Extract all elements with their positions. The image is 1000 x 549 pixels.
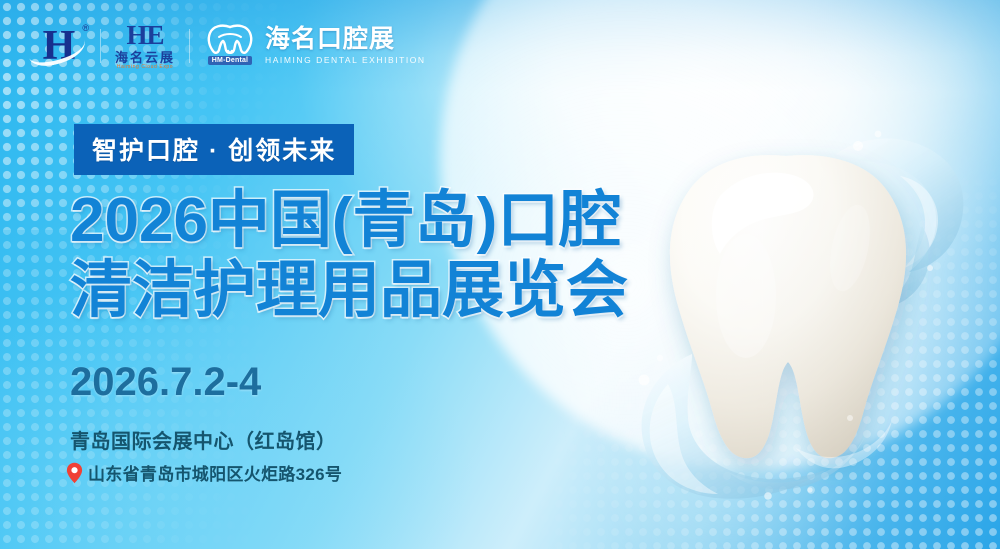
tagline-banner: 智护口腔 · 创领未来 [74,124,354,175]
event-address-row: 山东省青岛市城阳区火炬路326号 [66,460,342,485]
logo-bar: H ® HE 海名云展 Haiming Cloud Expo HM-Dental… [30,22,426,70]
tooth-logo-icon: HM-Dental [204,23,256,69]
exhibition-banner: H ® HE 海名云展 Haiming Cloud Expo HM-Dental… [0,0,1000,549]
registered-trademark-icon: ® [82,23,89,33]
event-address: 山东省青岛市城阳区火炬路326号 [88,460,342,485]
map-pin-icon [66,462,83,484]
hd-dental-tag: HM-Dental [208,56,252,65]
hm-monogram-letter: H [43,25,74,67]
main-title: 2026中国(青岛)口腔 清洁护理用品展览会 [70,186,628,326]
event-venue: 青岛国际会展中心（红岛馆） [70,425,337,454]
title-line-1: 2026中国(青岛)口腔 [70,186,628,256]
logo-haiming-dental-exhibition[interactable]: HM-Dental 海名口腔展 HAIMING DENTAL EXHIBITIO… [204,23,426,69]
he-english-name: Haiming Cloud Expo [117,65,173,70]
tooth-with-water-splash-graphic [600,118,972,506]
title-line-2: 清洁护理用品展览会 [70,256,628,326]
he-monogram-letters: HE [127,22,164,49]
hd-english-name: HAIMING DENTAL EXHIBITION [265,56,426,65]
logo-hm-monogram[interactable]: H ® [30,22,86,70]
logo-divider [100,29,101,63]
event-date: 2026.7.2-4 [70,360,261,405]
hd-chinese-name: 海名口腔展 [265,27,426,52]
hd-text-block: 海名口腔展 HAIMING DENTAL EXHIBITION [265,27,426,65]
logo-haiming-cloud-expo[interactable]: HE 海名云展 Haiming Cloud Expo [115,22,175,70]
he-chinese-name: 海名云展 [115,51,175,64]
logo-divider [189,29,190,63]
